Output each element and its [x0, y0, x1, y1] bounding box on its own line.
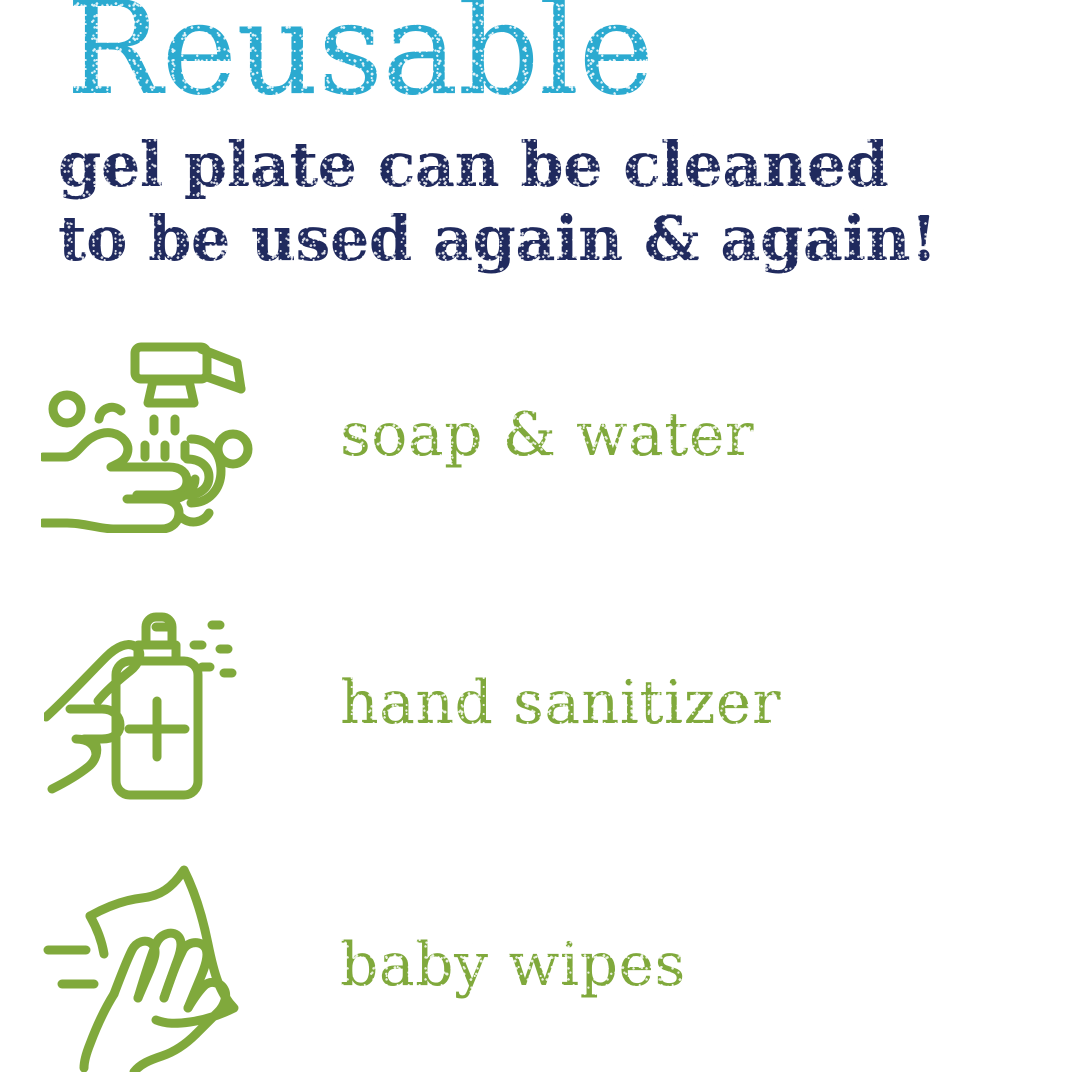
- page-title-text: Reusable: [66, 0, 653, 114]
- hands-washing-soap-dispenser-icon: [32, 330, 262, 540]
- baby-wipes-label-text: baby wipes: [340, 935, 686, 995]
- soap-water-label-text: soap & water: [340, 405, 754, 465]
- hand-wiping-with-cloth-icon: [32, 860, 262, 1070]
- reusable-gel-plate-infographic: Reusable gel plate can be cleaned to be …: [0, 0, 1080, 1080]
- hand-holding-sanitizer-pump-bottle-icon: [32, 598, 262, 808]
- list-item-hand-sanitizer: hand sanitizer: [0, 598, 1080, 808]
- list-item-label-baby-wipes: baby wipes: [340, 935, 686, 995]
- list-item-label-hand-sanitizer: hand sanitizer: [340, 673, 781, 733]
- list-item-label-soap-water: soap & water: [340, 405, 754, 465]
- subtitle-line-2: to be used again & again!: [58, 202, 1043, 276]
- subtitle: gel plate can be cleaned to be used agai…: [58, 128, 1043, 276]
- subtitle-line-1-text: gel plate can be cleaned: [58, 128, 888, 202]
- hand-sanitizer-label-text: hand sanitizer: [340, 673, 781, 733]
- list-item-baby-wipes: baby wipes: [0, 850, 1080, 1080]
- list-item-soap-water: soap & water: [0, 330, 1080, 540]
- page-title: Reusable: [66, 0, 1026, 114]
- subtitle-line-2-text: to be used again & again!: [58, 202, 937, 276]
- subtitle-line-1: gel plate can be cleaned: [58, 128, 1043, 202]
